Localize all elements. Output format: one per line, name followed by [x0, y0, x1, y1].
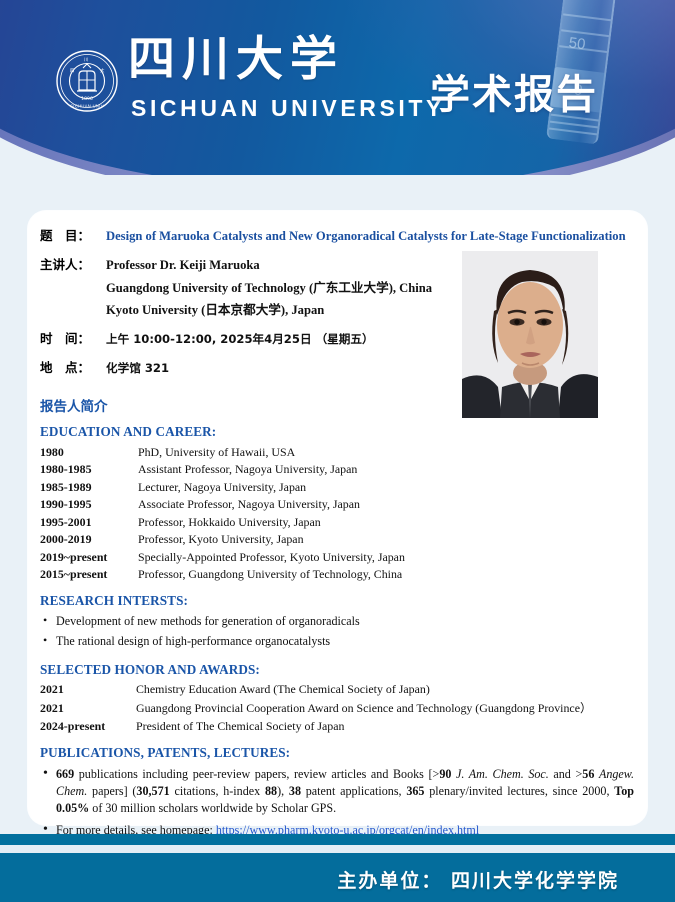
pub-lectures: 365 [406, 784, 424, 798]
table-row: 1995-2001 Professor, Hokkaido University… [40, 515, 637, 530]
cv-desc: Associate Professor, Nagoya University, … [138, 497, 360, 512]
table-row: 2021 Guangdong Provincial Cooperation Aw… [40, 699, 637, 716]
speaker-label: 主讲人： [40, 254, 106, 273]
education-heading: EDUCATION AND CAREER: [40, 424, 637, 440]
cv-desc: Specially-Appointed Professor, Kyoto Uni… [138, 550, 405, 565]
pub-angew-count: 56 [582, 767, 594, 781]
lecture-title: Design of Maruoka Catalysts and New Orga… [106, 229, 626, 245]
pub-text-7: plenary/invited lectures, since 2000, [424, 784, 614, 798]
list-item: • 669 publications including peer-review… [40, 766, 637, 818]
cv-year: 1990-1995 [40, 497, 138, 512]
place-value: 化学馆 321 [106, 360, 169, 376]
poster-root: 50 0 1896 SICHUAN UNIV 四 川 大 四川大学 SICHUA… [0, 0, 675, 902]
list-item: • Development of new methods for generat… [40, 613, 637, 630]
pub-text-3: papers] ( [87, 784, 136, 798]
cv-year: 1980-1985 [40, 462, 138, 477]
cv-year: 2019~present [40, 550, 138, 565]
research-text: Development of new methods for generatio… [56, 613, 360, 630]
research-text: The rational design of high-performance … [56, 633, 330, 650]
pub-citations: 30,571 [136, 784, 169, 798]
awards-list: 2021 Chemistry Education Award (The Chem… [40, 682, 637, 734]
footer-top-bar [0, 834, 675, 845]
publications-paragraph: 669 publications including peer-review p… [56, 766, 634, 818]
bullet-icon: • [40, 613, 56, 630]
pub-h-index: 88 [265, 784, 277, 798]
sichuan-university-seal-icon: 1896 SICHUAN UNIV 四 川 大 [56, 50, 118, 112]
footer-organizer: 主办单位： 四川大学化学学院 [337, 866, 619, 893]
table-row: 1980-1985 Assistant Professor, Nagoya Un… [40, 462, 637, 477]
award-year: 2021 [40, 682, 136, 697]
award-desc: President of The Chemical Society of Jap… [136, 719, 344, 734]
cv-desc: Lecturer, Nagoya University, Japan [138, 480, 306, 495]
title-row: 题 目： Design of Maruoka Catalysts and New… [40, 225, 637, 245]
cv-year: 1985-1989 [40, 480, 138, 495]
cv-year: 2015~present [40, 567, 138, 582]
cv-desc: Assistant Professor, Nagoya University, … [138, 462, 357, 477]
table-row: 2019~present Specially-Appointed Profess… [40, 550, 637, 565]
pub-text-1: publications including peer-review paper… [74, 767, 439, 781]
award-desc: Guangdong Provincial Cooperation Award o… [136, 699, 592, 716]
cylinder-mark-50: 50 [568, 34, 587, 53]
cv-desc: Professor, Kyoto University, Japan [138, 532, 304, 547]
table-row: 1980 PhD, University of Hawaii, USA [40, 445, 637, 460]
table-row: 1990-1995 Associate Professor, Nagoya Un… [40, 497, 637, 512]
award-year: 2024-present [40, 719, 136, 734]
svg-text:川: 川 [84, 58, 88, 63]
cv-year: 1980 [40, 445, 138, 460]
svg-text:四: 四 [70, 68, 74, 74]
svg-text:1896: 1896 [81, 96, 93, 102]
pub-jacs-count: 90 [439, 767, 451, 781]
awards-heading: SELECTED HONOR AND AWARDS: [40, 662, 637, 678]
footer-divider [0, 845, 675, 853]
cv-year: 1995-2001 [40, 515, 138, 530]
pub-text-4: citations, h-index [170, 784, 265, 798]
cv-desc: Professor, Hokkaido University, Japan [138, 515, 321, 530]
speaker-portrait [462, 251, 598, 418]
pub-jacs-journal: J. Am. Chem. Soc. [456, 767, 549, 781]
pub-count: 669 [56, 767, 74, 781]
table-row: 2015~present Professor, Guangdong Univer… [40, 567, 637, 582]
place-label: 地 点： [40, 357, 106, 376]
cv-year: 2000-2019 [40, 532, 138, 547]
publications-heading: PUBLICATIONS, PATENTS, LECTURES: [40, 745, 637, 761]
cv-desc: PhD, University of Hawaii, USA [138, 445, 295, 460]
university-name-en: SICHUAN UNIVERSITY [131, 95, 445, 122]
university-name-cn: 四川大学 [128, 36, 344, 83]
bullet-icon: • [40, 766, 56, 818]
publications-list: • 669 publications including peer-review… [40, 766, 637, 840]
pub-text-8: of 30 million scholars worldwide by Scho… [89, 801, 336, 815]
table-row: 2021 Chemistry Education Award (The Chem… [40, 682, 637, 697]
pub-text-6: patent applications, [301, 784, 406, 798]
report-label-cn: 学术报告 [430, 62, 598, 120]
award-desc: Chemistry Education Award (The Chemical … [136, 682, 430, 697]
svg-text:SICHUAN UNIV: SICHUAN UNIV [70, 103, 104, 108]
svg-text:大: 大 [100, 67, 105, 74]
research-list: • Development of new methods for generat… [40, 613, 637, 651]
award-year: 2021 [40, 701, 136, 716]
list-item: • The rational design of high-performanc… [40, 633, 637, 650]
speaker-name: Professor Dr. Keiji Maruoka [106, 257, 260, 273]
research-heading: RESEARCH INTERSTS: [40, 593, 637, 609]
pub-text-5: ), [277, 784, 289, 798]
title-label: 题 目： [40, 225, 106, 244]
time-label: 时 间： [40, 328, 106, 347]
table-row: 2024-present President of The Chemical S… [40, 719, 637, 734]
table-row: 2000-2019 Professor, Kyoto University, J… [40, 532, 637, 547]
time-value: 上午 10:00-12:00, 2025年4月25日 （星期五） [106, 331, 374, 347]
cv-desc: Professor, Guangdong University of Techn… [138, 567, 402, 582]
portrait-image [462, 251, 598, 418]
pub-patents: 38 [289, 784, 301, 798]
poster-header: 50 0 1896 SICHUAN UNIV 四 川 大 四川大学 SICHUA… [0, 0, 675, 175]
bullet-icon: • [40, 633, 56, 650]
table-row: 1985-1989 Lecturer, Nagoya University, J… [40, 480, 637, 495]
education-list: 1980 PhD, University of Hawaii, USA 1980… [40, 445, 637, 583]
pub-text-2: and > [549, 767, 582, 781]
